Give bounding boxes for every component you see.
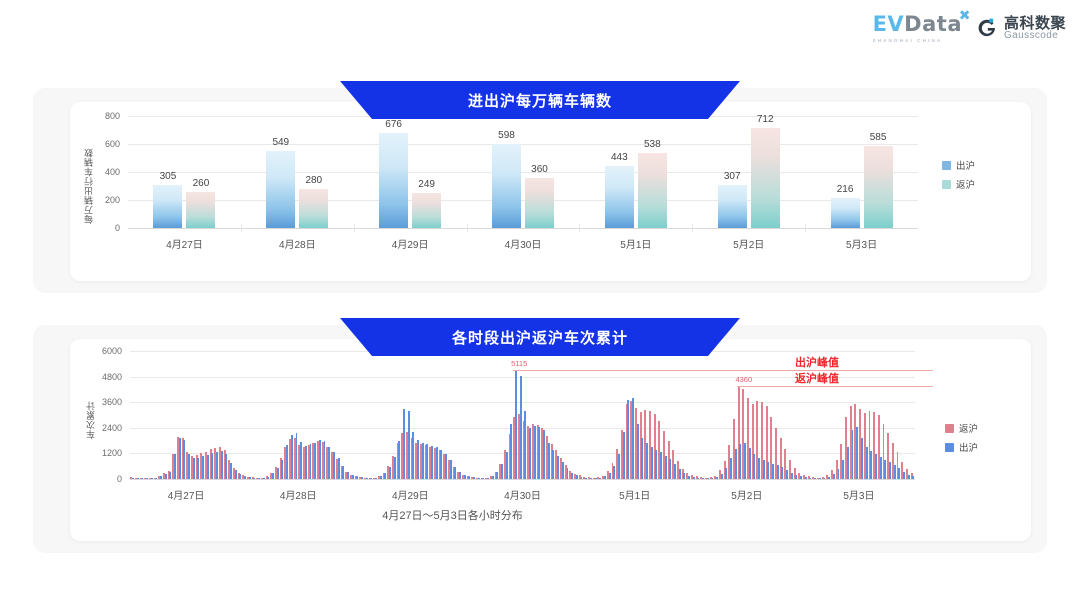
gausscode-name-cn: 高科数聚 (1004, 16, 1066, 31)
chart-1-bar (412, 193, 441, 228)
chart-1-category-separator (354, 224, 355, 232)
chart-1-y-tick: 400 (70, 167, 120, 177)
chart-1-gridline (128, 200, 918, 201)
chart-2-bar-depart (174, 454, 176, 479)
chart-2-bar-depart (253, 478, 255, 479)
chart-2-bar-depart (749, 448, 751, 479)
chart-2-bar-depart (538, 427, 540, 479)
chart-2-bar-depart (702, 478, 704, 479)
chart-2-bar-depart (552, 450, 554, 479)
chart-2-bar-depart (852, 430, 854, 479)
chart-2-bar-depart (450, 460, 452, 479)
chart-2-bar-depart (880, 457, 882, 479)
chart-2-bar-depart (697, 478, 699, 479)
legend-swatch-icon (942, 161, 951, 170)
chart-2-bar-depart (380, 476, 382, 479)
card-chart-2: 车次累计0120024003600480060004月27日4月28日4月29日… (70, 339, 1031, 541)
chart-2-bar-depart (809, 478, 811, 479)
chart-2-bar-depart (324, 441, 326, 479)
chart-2-bar-depart (679, 469, 681, 479)
chart-1-category-separator (692, 224, 693, 232)
chart-2-x-tick: 4月27日 (168, 487, 205, 502)
chart-2-bar-depart (426, 444, 428, 479)
chart-1-bar (492, 144, 521, 228)
chart-1-bar (299, 189, 328, 228)
chart-2-x-tick: 5月2日 (731, 487, 762, 502)
chart-2-bar-depart (744, 443, 746, 479)
chart-2-bar-depart (884, 460, 886, 479)
chart-2-peak-line (737, 386, 933, 387)
chart-2-bar-depart (296, 433, 298, 479)
section-title-1: 进出沪每万辆车辆数 (340, 81, 740, 119)
chart-2-bar-depart (417, 440, 419, 479)
chart-1-bar-value: 712 (757, 114, 774, 125)
chart-2-bar-depart (571, 473, 573, 479)
chart-2-bar-depart (875, 454, 877, 479)
chart-1-legend-item[interactable]: 出沪 (942, 158, 975, 172)
chart-2-bar-depart (436, 447, 438, 479)
chart-2-bar-depart (249, 477, 251, 479)
chart-1-category-separator (241, 224, 242, 232)
chart-2-bar-depart (599, 478, 601, 479)
chart-2-bar-depart (716, 477, 718, 479)
chart-2-bar-depart (160, 476, 162, 479)
chart-2-bar-depart (225, 454, 227, 479)
chart-2-bar-depart (515, 370, 517, 479)
chart-2-bar-depart (660, 452, 662, 479)
chart-1-legend-item[interactable]: 返沪 (942, 177, 975, 191)
legend-swatch-icon (945, 424, 954, 433)
chart-2-bar-depart (375, 478, 377, 479)
chart-2-x-tick: 4月29日 (392, 487, 429, 502)
chart-2-bar-depart (230, 463, 232, 479)
chart-2-bar-depart (267, 477, 269, 479)
chart-2-bar-depart (609, 473, 611, 479)
chart-2-bar-depart (805, 477, 807, 479)
chart-2-y-tick: 2400 (70, 423, 122, 433)
chart-2-bar-depart (548, 443, 550, 479)
chart-2-bar-depart (763, 460, 765, 479)
chart-2-x-tick: 5月3日 (843, 487, 874, 502)
chart-1-bar-value: 360 (531, 164, 548, 175)
chart-2-bar-depart (482, 478, 484, 479)
chart-2-bar-depart (188, 454, 190, 479)
chart-2-bar-depart (356, 476, 358, 479)
chart-2-peak-value: 4360 (735, 375, 752, 384)
chart-2-bar-depart (300, 442, 302, 479)
gausscode-logo: 高科数聚 Gausscode (976, 16, 1066, 41)
chart-2-bar-depart (520, 376, 522, 479)
chart-2-bar-depart (431, 446, 433, 479)
chart-1-bar (831, 198, 860, 228)
chart-1-bar (864, 146, 893, 228)
chart-2-bar-depart (842, 460, 844, 479)
chart-2-legend-item[interactable]: 出沪 (945, 440, 978, 454)
chart-2-bar-depart (637, 424, 639, 479)
chart-2-bar-depart (445, 454, 447, 479)
chart-1-category-separator (467, 224, 468, 232)
chart-2-bar-depart (333, 452, 335, 479)
chart-1-bar-value: 280 (305, 175, 322, 186)
chart-2-bar-depart (366, 478, 368, 479)
chart-2-bar-depart (314, 443, 316, 479)
chart-2-bar-depart (384, 473, 386, 479)
chart-2-bar-depart (239, 474, 241, 479)
evdata-wordmark: EVData ✖ (873, 14, 962, 35)
chart-2-bar-depart (567, 468, 569, 479)
chart-2-bar-depart (286, 445, 288, 479)
chart-2-x-tick: 4月28日 (280, 487, 317, 502)
chart-1-legend: 出沪返沪 (942, 158, 975, 191)
chart-2-bar-depart (305, 446, 307, 479)
chart-2-bar-depart (221, 451, 223, 479)
chart-2-y-tick: 1200 (70, 448, 122, 458)
chart-2-bar-depart (828, 477, 830, 479)
chart-2-peak-label: 返沪峰值 (795, 370, 839, 386)
chart-2-y-tick: 0 (70, 474, 122, 484)
chart-2-bar-depart (263, 478, 265, 479)
chart-2-bar-depart (735, 449, 737, 479)
chart-2-y-tick: 3600 (70, 397, 122, 407)
chart-2-bar-depart (627, 400, 629, 479)
gausscode-name-en: Gausscode (1004, 31, 1066, 41)
chart-2-x-axis (130, 479, 915, 480)
chart-1-bar (379, 133, 408, 228)
chart-2-bar-depart (155, 478, 157, 479)
chart-1-bar (638, 153, 667, 228)
chart-2-bar-depart (492, 476, 494, 479)
chart-2-bar-depart (665, 456, 667, 479)
chart-2-bar-depart (291, 435, 293, 479)
legend-swatch-icon (942, 180, 951, 189)
chart-2-bar-depart (595, 478, 597, 479)
chart-2-bar-depart (618, 454, 620, 479)
chart-1-y-tick: 200 (70, 195, 120, 205)
chart-1-bar-value: 260 (193, 178, 210, 189)
chart-2-bar-depart (496, 472, 498, 479)
chart-2-bar-depart (412, 432, 414, 479)
chart-2-bar-depart (632, 398, 634, 479)
chart-2-bar-depart (319, 440, 321, 479)
chart-2-bar-depart (777, 465, 779, 479)
evdata-data-text: Data (904, 12, 962, 36)
chart-2-bar-depart (604, 476, 606, 479)
chart-2-bar-depart (688, 476, 690, 479)
chart-1-x-tick: 5月2日 (733, 236, 764, 251)
chart-2-bar-depart (641, 438, 643, 479)
chart-2-bar-depart (683, 473, 685, 479)
chart-1-x-tick: 4月27日 (166, 236, 203, 251)
chart-2-bar-depart (758, 458, 760, 479)
chart-2-bar-depart (581, 477, 583, 479)
chart-2-bar-depart (408, 411, 410, 479)
chart-2-bar-depart (193, 458, 195, 479)
chart-2-bar-depart (898, 468, 900, 479)
chart-2-bar-depart (473, 477, 475, 479)
chart-2-bar-depart (870, 451, 872, 479)
chart-1-bar-value: 598 (498, 130, 515, 141)
chart-2-gridline (130, 402, 915, 403)
chart-2-bar-depart (487, 478, 489, 479)
chart-1-bar-value: 676 (385, 119, 402, 130)
chart-2-bar-depart (721, 474, 723, 479)
chart-2-bar-depart (338, 458, 340, 479)
chart-2-peak-label: 出沪峰值 (795, 354, 839, 370)
chart-2-peak-value: 5115 (511, 359, 527, 368)
chart-2-bar-depart (179, 438, 181, 479)
chart-2-x-tick: 4月30日 (504, 487, 541, 502)
chart-1-category-separator (805, 224, 806, 232)
chart-2-legend-label: 返沪 (959, 421, 978, 435)
chart-2-bar-depart (151, 478, 153, 479)
slide-page: EVData ✖ SHANGHAI CHINA 高科数聚 Gausscode 每… (0, 0, 1080, 608)
chart-2-bar-depart (207, 455, 209, 479)
evdata-subtitle: SHANGHAI CHINA (873, 38, 943, 43)
chart-1-bar-value: 216 (837, 184, 854, 195)
chart-2-bar-depart (277, 468, 279, 479)
chart-2-bar-depart (328, 447, 330, 479)
chart-2-bar-depart (838, 469, 840, 479)
chart-2-bar-depart (216, 452, 218, 479)
chart-1-bar-value: 249 (418, 179, 435, 190)
chart-2-y-tick: 4800 (70, 372, 122, 382)
chart-2-bar-depart (524, 411, 526, 479)
chart-1-bar (186, 192, 215, 228)
chart-2-bar-depart (258, 478, 260, 479)
chart-1-bar (153, 185, 182, 228)
evdata-ev-text: EV (873, 12, 905, 36)
chart-2-bar-depart (861, 438, 863, 479)
chart-2-bar-depart (183, 440, 185, 479)
chart-2-bar-depart (623, 432, 625, 479)
chart-1-y-tick: 600 (70, 139, 120, 149)
header-logos: EVData ✖ SHANGHAI CHINA 高科数聚 Gausscode (873, 14, 1066, 43)
chart-1-bar (605, 166, 634, 228)
chart-2-bar-depart (791, 473, 793, 479)
chart-2-bar-depart (562, 462, 564, 479)
chart-2-bar-depart (824, 478, 826, 479)
chart-2-bar-depart (753, 454, 755, 479)
chart-2-x-axis-caption: 4月27日～5月3日各小时分布 (382, 507, 523, 523)
chart-2-bar-depart (730, 458, 732, 479)
chart-2-y-tick: 6000 (70, 346, 122, 356)
chart-2-bar-depart (132, 478, 134, 479)
chart-2-bar-depart (141, 478, 143, 479)
chart-1-x-axis (128, 228, 918, 229)
chart-2-bar-depart (739, 444, 741, 479)
chart-1-bar-value: 538 (644, 139, 661, 150)
chart-2-legend: 返沪出沪 (945, 421, 978, 454)
chart-2-plot: 车次累计0120024003600480060004月27日4月28日4月29日… (70, 339, 1031, 541)
chart-2-bar-depart (795, 475, 797, 479)
chart-2-bar-depart (510, 424, 512, 479)
chart-2-bar-depart (211, 453, 213, 479)
chart-2-bar-depart (781, 467, 783, 479)
chart-1-bar (266, 151, 295, 228)
evdata-logo: EVData ✖ SHANGHAI CHINA (873, 14, 962, 43)
chart-2-bar-depart (707, 478, 709, 479)
chart-2-bar-depart (613, 466, 615, 479)
chart-2-bar-depart (903, 472, 905, 479)
chart-1-legend-label: 出沪 (956, 158, 975, 172)
chart-1-x-tick: 5月1日 (620, 236, 651, 251)
chart-2-bar-depart (772, 464, 774, 479)
chart-2-bar-depart (272, 473, 274, 479)
chart-2-bar-depart (908, 475, 910, 479)
chart-2-bar-depart (394, 457, 396, 479)
chart-2-bar-depart (693, 477, 695, 479)
section-title-2: 各时段出沪返沪车次累计 (340, 318, 740, 356)
chart-2-bar-depart (370, 478, 372, 479)
chart-1-y-tick: 0 (70, 223, 120, 233)
chart-2-bar-depart (347, 472, 349, 479)
chart-1-bar-value: 549 (272, 137, 289, 148)
chart-1-bar (718, 185, 747, 228)
chart-2-bar-depart (440, 450, 442, 479)
chart-1-y-tick: 800 (70, 111, 120, 121)
chart-2-bar-depart (468, 476, 470, 479)
chart-2-bar-depart (590, 478, 592, 479)
chart-2-bar-depart (767, 462, 769, 479)
chart-2-bar-depart (398, 441, 400, 479)
chart-2-bar-depart (711, 478, 713, 479)
chart-2-bar-depart (422, 443, 424, 479)
chart-1-category-separator (579, 224, 580, 232)
chart-2-bar-depart (352, 475, 354, 479)
chart-2-bar-depart (786, 470, 788, 479)
chart-2-bar-depart (534, 426, 536, 479)
chart-2-bar-depart (529, 428, 531, 479)
chart-2-bar-depart (866, 447, 868, 479)
chart-2-bar-depart (342, 466, 344, 479)
chart-2-bar-depart (146, 478, 148, 479)
chart-2-bar-depart (169, 472, 171, 479)
chart-1-x-tick: 4月30日 (505, 236, 542, 251)
chart-2-bar-depart (197, 458, 199, 479)
chart-2-bar-depart (889, 462, 891, 479)
chart-2-legend-label: 出沪 (959, 440, 978, 454)
chart-2-bar-depart (800, 476, 802, 479)
gausscode-text: 高科数聚 Gausscode (1004, 16, 1066, 41)
chart-2-bar-depart (389, 467, 391, 479)
chart-2-bar-depart (557, 456, 559, 479)
chart-2-bar-depart (856, 427, 858, 479)
legend-swatch-icon (945, 443, 954, 452)
chart-1-bar-value: 585 (870, 132, 887, 143)
chart-2-bar-depart (576, 475, 578, 479)
chart-2-x-tick: 5月1日 (619, 487, 650, 502)
chart-2-peak-line (513, 370, 933, 371)
chart-2-bar-depart (361, 477, 363, 479)
chart-2-bar-depart (464, 475, 466, 479)
chart-1-bar (751, 128, 780, 228)
chart-2-bar-depart (819, 478, 821, 479)
chart-2-bar-depart (165, 474, 167, 479)
chart-2-bar-depart (543, 430, 545, 479)
chart-1-bar-value: 443 (611, 152, 628, 163)
chart-2-bar-depart (403, 409, 405, 479)
chart-2-bar-depart (244, 476, 246, 479)
chart-2-bar-depart (833, 474, 835, 479)
chart-2-bar-depart (281, 460, 283, 479)
card-chart-1: 每万辆出行车辆数02004006008003052604月27日5492804月… (70, 102, 1031, 281)
chart-2-bar-depart (137, 478, 139, 479)
chart-1-x-tick: 4月29日 (392, 236, 429, 251)
chart-1-x-tick: 5月3日 (846, 236, 877, 251)
chart-2-bar-depart (506, 452, 508, 479)
chart-2-bar-depart (669, 459, 671, 479)
chart-2-bar-depart (501, 464, 503, 479)
chart-2-bar-depart (202, 456, 204, 479)
chart-1-legend-label: 返沪 (956, 177, 975, 191)
chart-1-gridline (128, 144, 918, 145)
chart-2-bar-depart (725, 468, 727, 479)
chart-1-plot: 每万辆出行车辆数02004006008003052604月27日5492804月… (70, 102, 1031, 281)
chart-2-bar-depart (912, 476, 914, 479)
chart-2-bar-depart (478, 478, 480, 479)
chart-2-bar-depart (646, 443, 648, 479)
x-mark-icon: ✖ (959, 9, 971, 23)
chart-2-bar-depart (235, 470, 237, 479)
chart-1-x-tick: 4月28日 (279, 236, 316, 251)
chart-2-bar-depart (847, 447, 849, 479)
chart-1-bar (525, 178, 554, 228)
chart-2-bar-depart (585, 478, 587, 479)
chart-2-bar-depart (454, 467, 456, 479)
chart-2-legend-item[interactable]: 返沪 (945, 421, 978, 435)
chart-2-bar-depart (459, 472, 461, 479)
chart-2-bar-depart (655, 450, 657, 479)
chart-2-bar-depart (814, 478, 816, 479)
chart-1-bar-value: 305 (160, 171, 177, 182)
chart-1-gridline (128, 172, 918, 173)
gausscode-logo-icon (976, 17, 998, 39)
chart-2-bar-depart (310, 444, 312, 479)
chart-2-bar-depart (894, 465, 896, 479)
chart-2-bar-depart (651, 447, 653, 479)
chart-1-bar-value: 307 (724, 171, 741, 182)
panel-chart-2: 车次累计0120024003600480060004月27日4月28日4月29日… (33, 325, 1047, 553)
chart-2-bar-depart (674, 464, 676, 479)
